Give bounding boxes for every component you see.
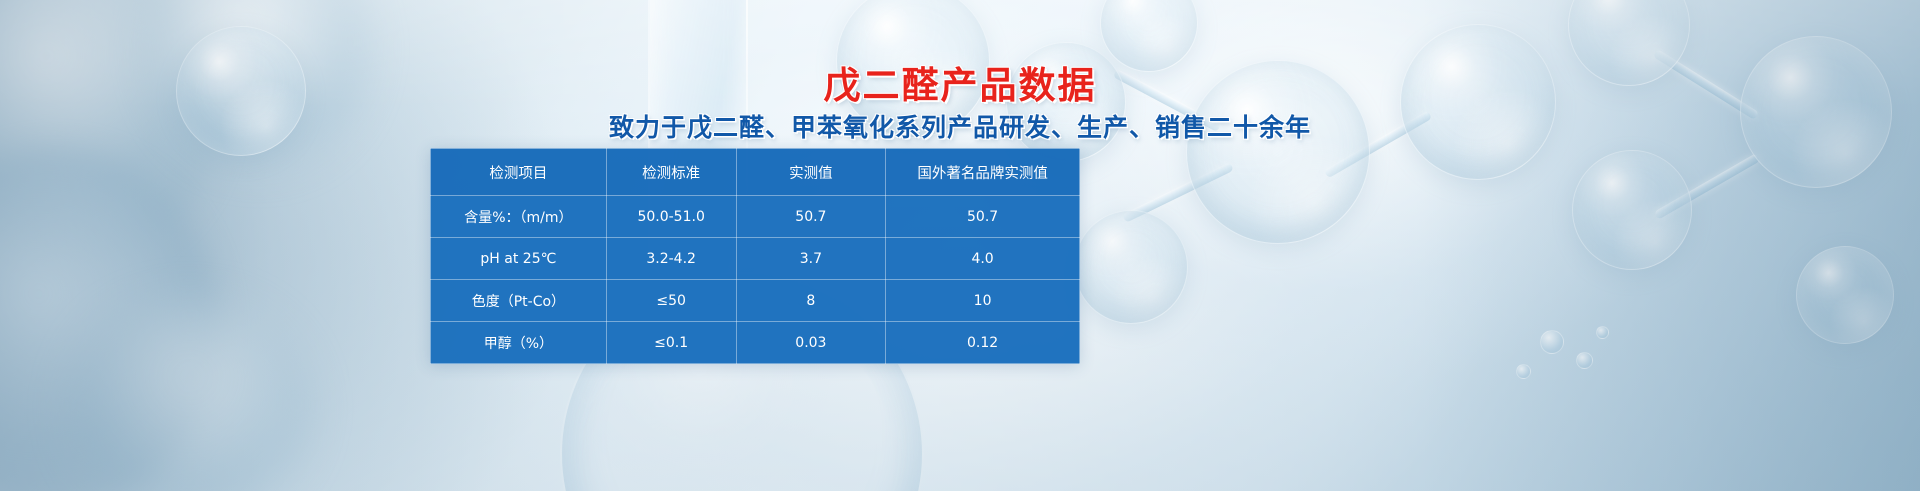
cell-measured: 50.7 [736, 196, 886, 238]
product-data-table: 检测项目 检测标准 实测值 国外著名品牌实测值 含量%：（m/m） 50.0-5… [430, 148, 1080, 364]
cell-measured: 3.7 [736, 238, 886, 280]
column-header-measured: 实测值 [736, 149, 886, 196]
cell-foreign: 4.0 [886, 238, 1080, 280]
page-title: 戊二醛产品数据 [0, 55, 1920, 109]
cell-item: 甲醇（%） [431, 322, 607, 364]
cell-standard: ≤0.1 [606, 322, 736, 364]
cell-measured: 0.03 [736, 322, 886, 364]
table-row: 含量%：（m/m） 50.0-51.0 50.7 50.7 [431, 196, 1080, 238]
cell-foreign: 0.12 [886, 322, 1080, 364]
cell-standard: ≤50 [606, 280, 736, 322]
column-header-standard: 检测标准 [606, 149, 736, 196]
cell-foreign: 10 [886, 280, 1080, 322]
table-row: 甲醇（%） ≤0.1 0.03 0.12 [431, 322, 1080, 364]
column-header-foreign: 国外著名品牌实测值 [886, 149, 1080, 196]
table-row: 色度（Pt-Co） ≤50 8 10 [431, 280, 1080, 322]
product-data-table-wrapper: 检测项目 检测标准 实测值 国外著名品牌实测值 含量%：（m/m） 50.0-5… [430, 148, 1080, 364]
cell-standard: 50.0-51.0 [606, 196, 736, 238]
table-header-row: 检测项目 检测标准 实测值 国外著名品牌实测值 [431, 149, 1080, 196]
cell-item: 含量%：（m/m） [431, 196, 607, 238]
page-subtitle: 致力于戊二醛、甲苯氧化系列产品研发、生产、销售二十余年 [0, 108, 1920, 144]
cell-standard: 3.2-4.2 [606, 238, 736, 280]
product-data-banner: 戊二醛产品数据 致力于戊二醛、甲苯氧化系列产品研发、生产、销售二十余年 检测项目… [0, 0, 1920, 491]
column-header-item: 检测项目 [431, 149, 607, 196]
cell-measured: 8 [736, 280, 886, 322]
table-row: pH at 25℃ 3.2-4.2 3.7 4.0 [431, 238, 1080, 280]
cell-item: pH at 25℃ [431, 238, 607, 280]
cell-item: 色度（Pt-Co） [431, 280, 607, 322]
cell-foreign: 50.7 [886, 196, 1080, 238]
